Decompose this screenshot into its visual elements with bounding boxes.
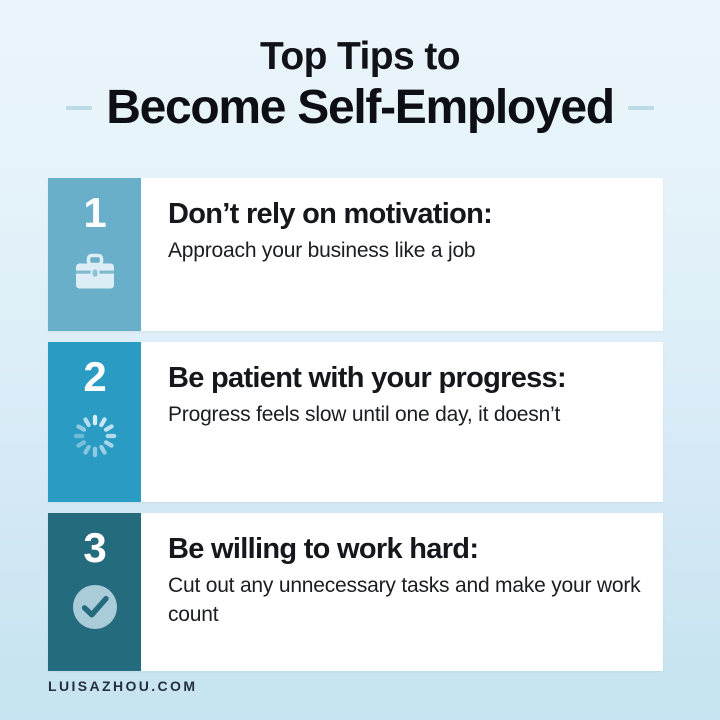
title-line-2: Become Self-Employed — [106, 83, 614, 133]
tip-heading-1: Don’t rely on motivation: — [168, 198, 643, 230]
check-circle-icon — [69, 581, 121, 633]
tip-body-2: Be patient with your progress: Progress … — [141, 342, 663, 502]
tip-heading-3: Be willing to work hard: — [168, 533, 643, 565]
tip-card-2: 2 — [48, 342, 663, 502]
spinner-icon — [69, 410, 121, 462]
tip-subtext-2: Progress feels slow until one day, it do… — [168, 401, 643, 429]
tip-body-3: Be willing to work hard: Cut out any unn… — [141, 513, 663, 671]
infographic-poster: Top Tips to Become Self-Employed 1 — [0, 0, 720, 720]
tips-list: 1 Don’t rely on motivation: Approach you… — [48, 178, 663, 682]
tip-card-3: 3 Be willing to work hard: Cut out any u… — [48, 513, 663, 671]
tip-body-1: Don’t rely on motivation: Approach your … — [141, 178, 663, 331]
tip-number-tile-1: 1 — [48, 178, 141, 331]
tip-card-1: 1 Don’t rely on motivation: Approach you… — [48, 178, 663, 331]
tip-number-1: 1 — [83, 192, 105, 234]
poster-header: Top Tips to Become Self-Employed — [0, 0, 720, 133]
poster-footer: LUISAZHOU.COM — [48, 678, 197, 696]
tip-subtext-1: Approach your business like a job — [168, 237, 643, 265]
tip-subtext-3: Cut out any unnecessary tasks and make y… — [168, 572, 643, 629]
title-line-1: Top Tips to — [0, 36, 720, 77]
tip-number-3: 3 — [83, 527, 105, 569]
dash-right-icon — [628, 106, 654, 110]
dash-left-icon — [66, 106, 92, 110]
tip-number-2: 2 — [83, 356, 105, 398]
tip-number-tile-3: 3 — [48, 513, 141, 671]
title-line-2-row: Become Self-Employed — [0, 83, 720, 133]
brand-watermark: LUISAZHOU.COM — [48, 678, 197, 694]
tip-number-tile-2: 2 — [48, 342, 141, 502]
tip-heading-2: Be patient with your progress: — [168, 362, 643, 394]
briefcase-icon — [69, 246, 121, 298]
